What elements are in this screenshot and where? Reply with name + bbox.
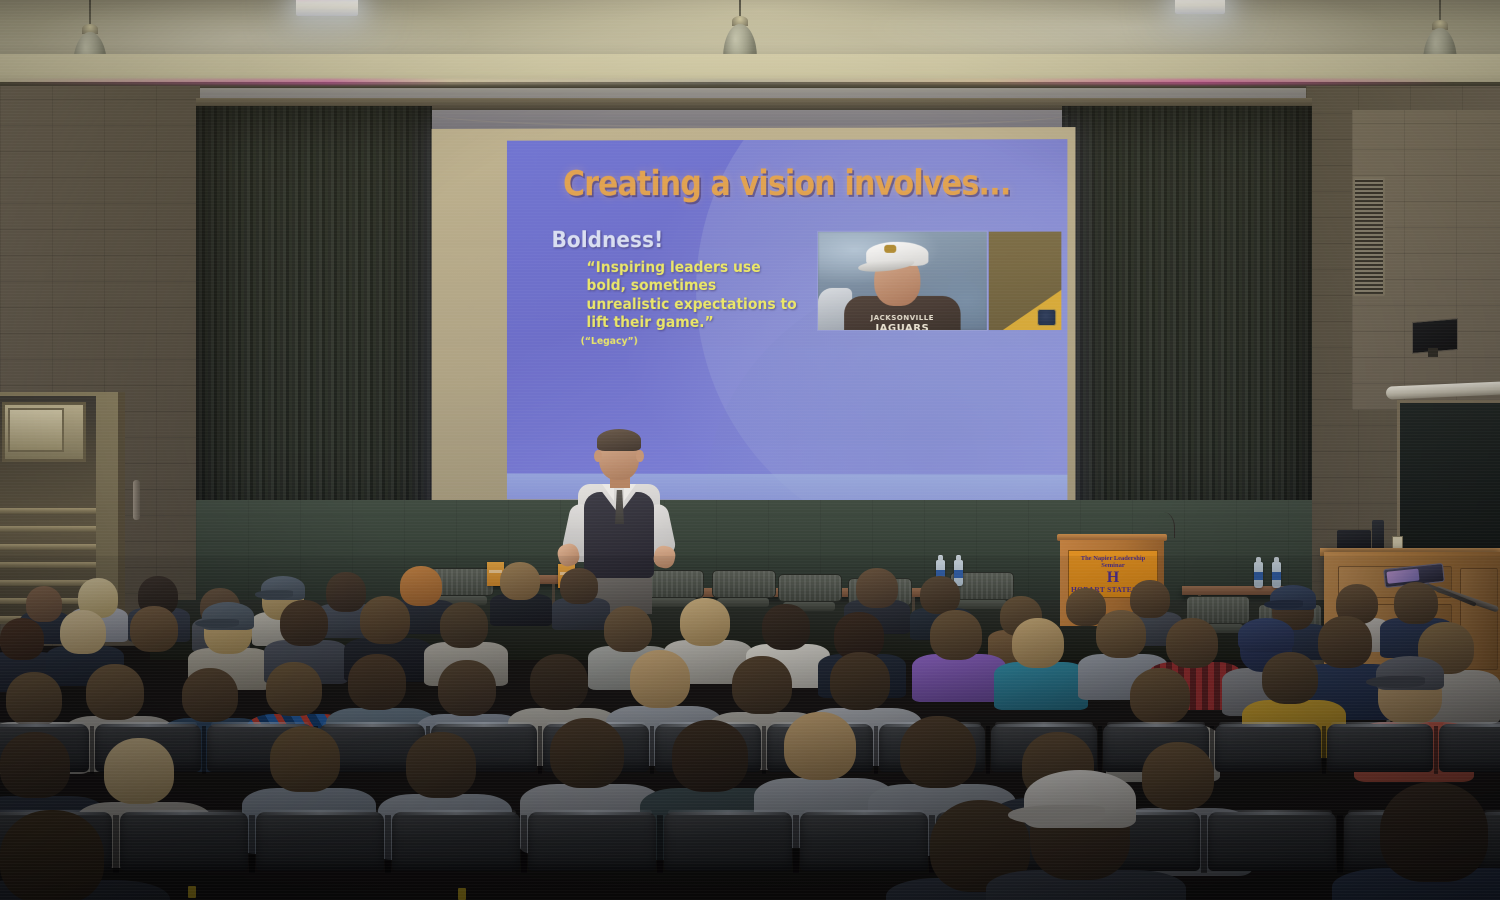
photo-shirt-text-line2: JAGUARS — [860, 323, 944, 330]
row-marker — [458, 888, 466, 900]
presenter-ear-left — [594, 450, 602, 462]
chalkboard — [1397, 400, 1500, 558]
ceiling-fluorescent-panel — [296, 0, 358, 16]
audience-member — [784, 712, 864, 824]
auditorium-seat[interactable] — [1204, 812, 1340, 888]
projection-screen: Creating a vision involves... Boldness! … — [432, 127, 1076, 517]
auditorium-seat[interactable] — [1212, 724, 1324, 786]
audience-member-foreground-with-cap — [1030, 786, 1140, 900]
seat-row[interactable] — [0, 812, 1500, 888]
wall-air-vent — [1353, 177, 1385, 296]
auditorium-seat[interactable] — [1324, 724, 1436, 786]
doorway-window-inner — [8, 408, 64, 452]
equipment-box — [1337, 530, 1371, 550]
slide-brown-panel — [989, 232, 1062, 330]
white-baseball-cap — [1024, 770, 1136, 828]
audience-member — [500, 562, 544, 622]
baseball-cap — [202, 602, 254, 630]
baseball-cap — [1270, 585, 1316, 610]
presenter-ear-right — [636, 450, 644, 462]
auditorium-seat[interactable] — [524, 812, 660, 888]
stage-curtain-right — [1062, 106, 1312, 526]
audience-seating-area — [0, 556, 1500, 900]
baseball-cap — [1376, 656, 1444, 690]
door-handle[interactable] — [133, 480, 140, 520]
auditorium-seat[interactable] — [116, 812, 252, 888]
auditorium-seat[interactable] — [252, 812, 388, 888]
row-marker — [188, 886, 196, 898]
slide-quote: “Inspiring leaders use bold, sometimes u… — [586, 258, 799, 331]
slide-title: Creating a vision involves... — [546, 163, 1028, 204]
auditorium-seat[interactable] — [388, 812, 524, 888]
knit-beanie — [1238, 618, 1294, 652]
auditorium-seat[interactable] — [660, 812, 796, 888]
baseball-cap — [261, 576, 305, 600]
cove-light-glow — [0, 79, 1500, 85]
slide-heading: Boldness! — [552, 228, 664, 253]
audience-member — [560, 568, 602, 626]
auditorium-photo: Creating a vision involves... Boldness! … — [0, 0, 1500, 900]
photo-shirt-text-line1: JACKSONVILLE — [862, 314, 942, 322]
curtain-swag-wire — [430, 100, 1070, 128]
presenter-hair — [597, 429, 641, 451]
audience-member-purple-hoodie — [930, 610, 988, 688]
slide-photo-coach: JACKSONVILLE JAGUARS — [818, 232, 987, 330]
handheld-device[interactable] — [1372, 520, 1384, 550]
auditorium-seat[interactable] — [1436, 724, 1500, 786]
stage-curtain-left — [196, 106, 432, 526]
speaker-mount-bracket — [1428, 348, 1438, 357]
audience-member-foreground — [0, 810, 120, 900]
audience-member-navy-usa-jacket — [1318, 616, 1380, 702]
photo-cap-logo — [884, 245, 896, 253]
ceiling-fluorescent-panel — [1175, 0, 1225, 14]
jaguars-logo-icon — [1037, 309, 1056, 326]
audience-member-teal-hoodie — [1012, 618, 1070, 696]
audience-member-foreground — [1380, 782, 1500, 900]
auditorium-seat[interactable] — [796, 812, 932, 888]
slide-attribution: (“Legacy”) — [581, 336, 638, 347]
